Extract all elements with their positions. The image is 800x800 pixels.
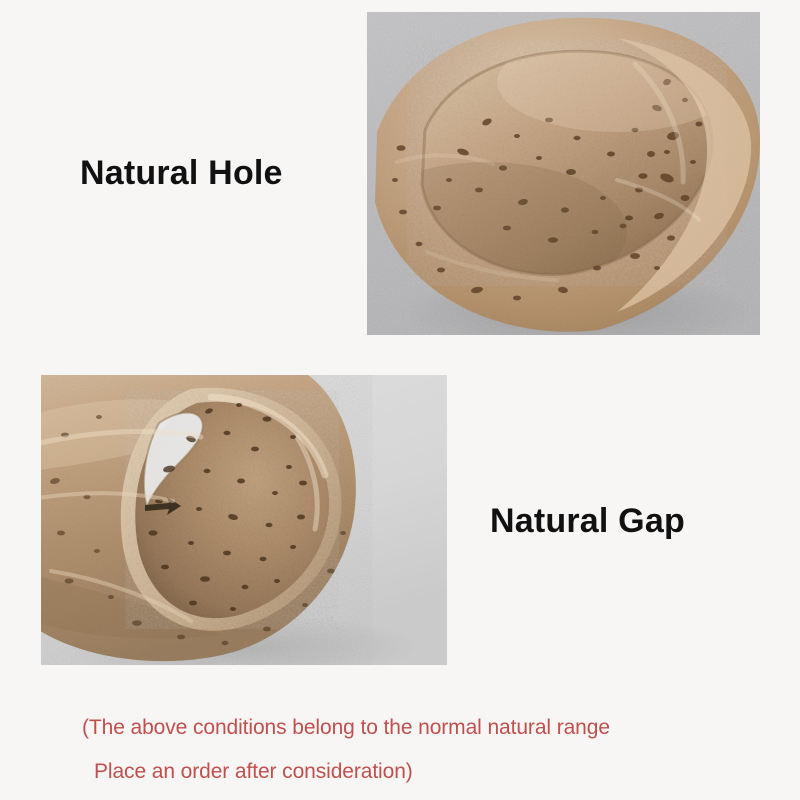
disclaimer-line-1: (The above conditions belong to the norm… bbox=[82, 706, 742, 750]
disclaimer-line-2: Place an order after consideration) bbox=[82, 750, 742, 794]
photo-natural-hole bbox=[367, 12, 760, 335]
disclaimer-note: (The above conditions belong to the norm… bbox=[82, 706, 742, 794]
product-info-canvas: Natural Hole Natural Gap (The above cond… bbox=[0, 0, 800, 800]
label-natural-gap: Natural Gap bbox=[490, 502, 685, 541]
label-natural-hole: Natural Hole bbox=[80, 154, 283, 193]
photo-natural-gap bbox=[41, 375, 447, 665]
